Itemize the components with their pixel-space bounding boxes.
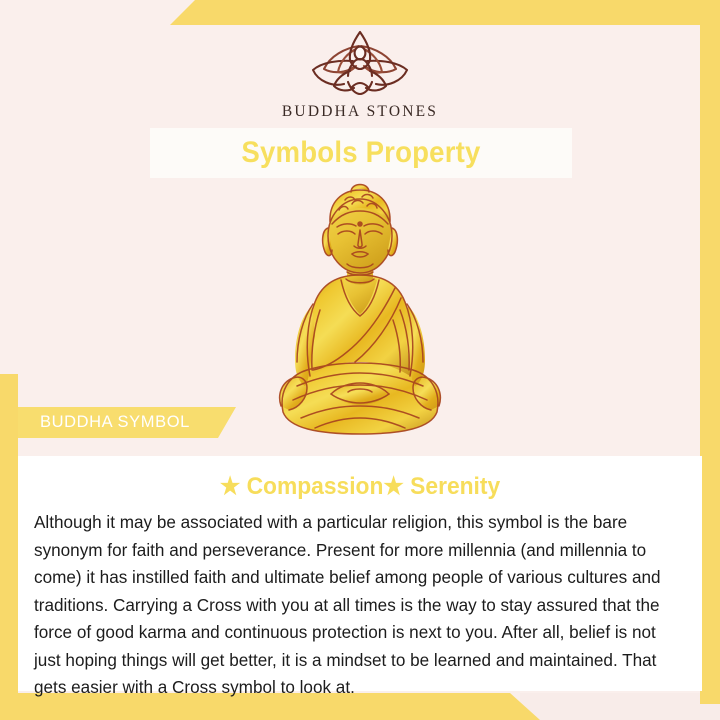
- lotus-meditation-icon: [296, 26, 424, 98]
- status-badge: BUDDHA SYMBOL: [18, 407, 236, 438]
- content-body: Although it may be associated with a par…: [34, 509, 676, 702]
- golden-seated-buddha-illustration-icon: [255, 180, 465, 442]
- badge-label: BUDDHA SYMBOL: [40, 413, 190, 432]
- brand-name: BUDDHA STONES: [282, 103, 438, 121]
- page-title: Symbols Property: [241, 136, 480, 170]
- content-card: ★ Compassion★ Serenity Although it may b…: [18, 456, 702, 691]
- brand-logo: BUDDHA STONES: [0, 26, 720, 121]
- content-headline: ★ Compassion★ Serenity: [48, 472, 671, 501]
- yellow-vertical-band-left-icon: [0, 374, 18, 720]
- infographic-canvas: BUDDHA STONES Symbols Property: [0, 0, 720, 720]
- title-banner: Symbols Property: [150, 128, 572, 178]
